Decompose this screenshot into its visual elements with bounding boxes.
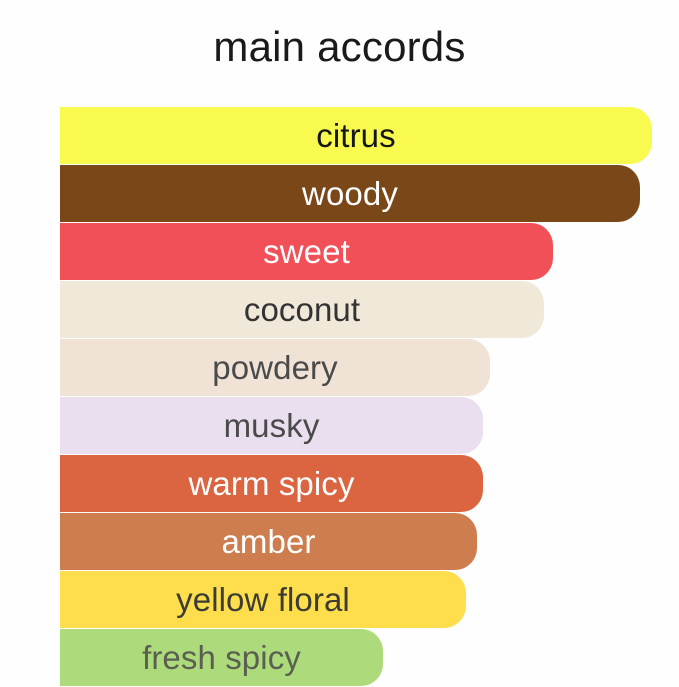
page-title: main accords <box>0 26 679 68</box>
accord-bar[interactable]: warm spicy <box>60 455 483 512</box>
accord-bar-label: coconut <box>60 281 544 338</box>
accord-bar-label: woody <box>60 165 640 222</box>
accord-bar[interactable]: musky <box>60 397 483 454</box>
main-accords-chart: main accords citruswoodysweetcoconutpowd… <box>0 0 679 679</box>
accord-bar-label: musky <box>60 397 483 454</box>
accord-bar-label: warm spicy <box>60 455 483 512</box>
accord-bar-label: yellow floral <box>60 571 466 628</box>
accord-bar[interactable]: coconut <box>60 281 544 338</box>
accord-bar-label: amber <box>60 513 477 570</box>
accord-bar-label: fresh spicy <box>60 629 383 686</box>
accord-bar[interactable]: citrus <box>60 107 652 164</box>
accord-bar-label: citrus <box>60 107 652 164</box>
accord-bar[interactable]: fresh spicy <box>60 629 383 686</box>
accord-bar-list: citruswoodysweetcoconutpowderymuskywarm … <box>60 107 679 687</box>
accord-bar[interactable]: woody <box>60 165 640 222</box>
accord-bar[interactable]: amber <box>60 513 477 570</box>
accord-bar[interactable]: powdery <box>60 339 490 396</box>
accord-bar[interactable]: yellow floral <box>60 571 466 628</box>
accord-bar[interactable]: sweet <box>60 223 553 280</box>
accord-bar-label: powdery <box>60 339 490 396</box>
accord-bar-label: sweet <box>60 223 553 280</box>
